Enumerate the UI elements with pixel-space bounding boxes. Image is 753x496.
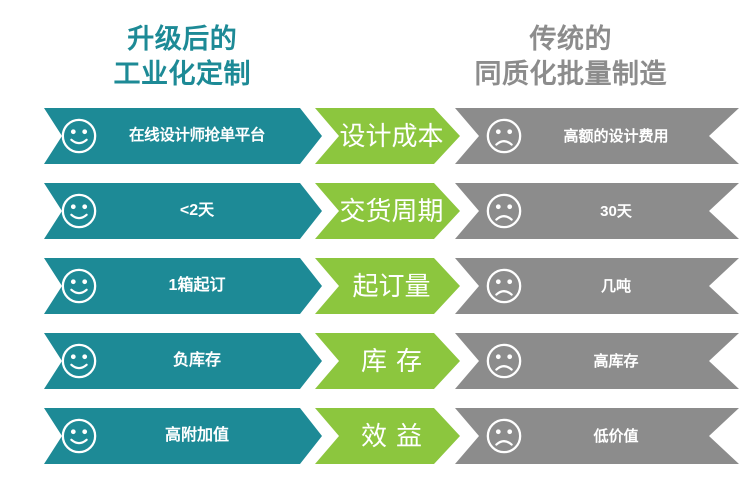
category-band: 起订量 <box>313 258 460 314</box>
upgraded-value: 负库存 <box>98 353 296 369</box>
upgraded-band: 在线设计师抢单平台 <box>30 108 322 164</box>
category-label: 交货周期 <box>329 198 454 224</box>
category-label: 库存 <box>329 348 454 374</box>
upgraded-band: 高附加值 <box>30 408 322 464</box>
comparison-rows: 在线设计师抢单平台 设计成本 高额的设计费用 <box>0 108 753 464</box>
frowning-face-icon <box>485 117 523 155</box>
frowning-face-icon <box>485 417 523 455</box>
category-band: 交货周期 <box>313 183 460 239</box>
category-label: 效益 <box>329 423 454 449</box>
comparison-row: <2天 交货周期 30天 <box>0 183 753 239</box>
frowning-face-icon <box>485 192 523 230</box>
traditional-value: 30天 <box>527 204 705 219</box>
upgraded-value: 1箱起订 <box>98 278 296 294</box>
smiley-face-icon <box>60 417 98 455</box>
traditional-value: 高库存 <box>527 354 705 369</box>
frowning-face-icon <box>485 267 523 305</box>
traditional-value: 低价值 <box>527 429 705 444</box>
upgraded-band: 负库存 <box>30 333 322 389</box>
comparison-infographic: 升级后的 工业化定制 传统的 同质化批量制造 在线设计师抢单平台 设计成本 <box>0 0 753 496</box>
smiley-face-icon <box>60 192 98 230</box>
category-band: 库存 <box>313 333 460 389</box>
upgraded-value: 高附加值 <box>98 428 296 444</box>
heading-traditional: 传统的 同质化批量制造 <box>383 22 753 108</box>
heading-traditional-line1: 传统的 <box>389 22 753 57</box>
category-band: 效益 <box>313 408 460 464</box>
traditional-band: 高库存 <box>451 333 739 389</box>
traditional-value: 几吨 <box>527 279 705 294</box>
comparison-row: 1箱起订 起订量 几吨 <box>0 258 753 314</box>
category-label: 起订量 <box>329 273 454 299</box>
comparison-row: 在线设计师抢单平台 设计成本 高额的设计费用 <box>0 108 753 164</box>
category-label: 设计成本 <box>329 123 454 149</box>
upgraded-value: 在线设计师抢单平台 <box>98 128 296 144</box>
heading-upgraded: 升级后的 工业化定制 <box>0 22 383 108</box>
traditional-band: 30天 <box>451 183 739 239</box>
heading-traditional-line2: 同质化批量制造 <box>389 57 753 92</box>
heading-upgraded-line2: 工业化定制 <box>0 57 365 92</box>
smiley-face-icon <box>60 117 98 155</box>
headings-row: 升级后的 工业化定制 传统的 同质化批量制造 <box>0 0 753 108</box>
category-band: 设计成本 <box>313 108 460 164</box>
traditional-value: 高额的设计费用 <box>527 129 705 144</box>
traditional-band: 高额的设计费用 <box>451 108 739 164</box>
upgraded-band: <2天 <box>30 183 322 239</box>
frowning-face-icon <box>485 342 523 380</box>
smiley-face-icon <box>60 342 98 380</box>
comparison-row: 负库存 库存 高库存 <box>0 333 753 389</box>
traditional-band: 低价值 <box>451 408 739 464</box>
heading-upgraded-line1: 升级后的 <box>0 22 365 57</box>
upgraded-value: <2天 <box>98 203 296 219</box>
comparison-row: 高附加值 效益 低价值 <box>0 408 753 464</box>
upgraded-band: 1箱起订 <box>30 258 322 314</box>
traditional-band: 几吨 <box>451 258 739 314</box>
smiley-face-icon <box>60 267 98 305</box>
